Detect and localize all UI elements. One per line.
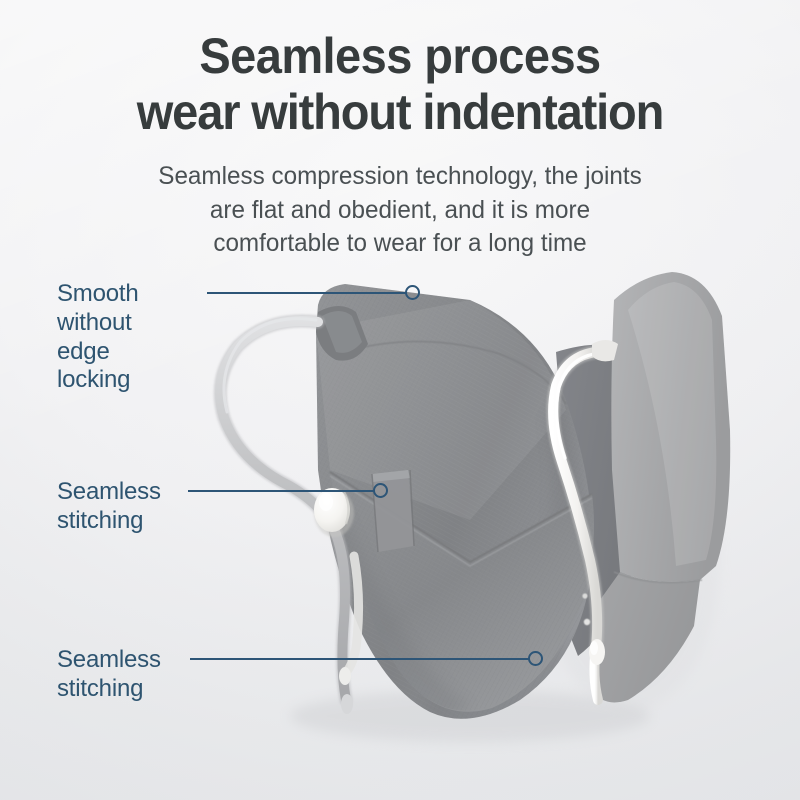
page-subhead: Seamless compression technology, the joi… xyxy=(61,160,740,261)
callout-marker-dot-1 xyxy=(405,285,420,300)
callout-label-stitching-lower: Seamless stitching xyxy=(57,646,161,704)
headline-line-1: Seamless process xyxy=(199,28,600,84)
callout-leader-line-3 xyxy=(190,658,530,660)
cord-tip xyxy=(341,694,353,714)
callout-leader-line-2 xyxy=(188,490,375,492)
subhead-line-1: Seamless compression technology, the joi… xyxy=(61,160,740,194)
callout-marker-dot-3 xyxy=(528,651,543,666)
subhead-line-3: comfortable to wear for a long time xyxy=(61,227,740,261)
white-strap-anchor xyxy=(592,340,618,361)
headline-line-2: wear without indentation xyxy=(24,84,776,140)
fabric-speck xyxy=(584,619,590,625)
page-headline: Seamless process wear without indentatio… xyxy=(24,28,776,140)
mask-side-panel-lower xyxy=(592,572,700,702)
callout-leader-line-1 xyxy=(207,292,407,294)
callout-label-stitching-upper: Seamless stitching xyxy=(57,478,161,536)
callout-marker-dot-2 xyxy=(373,483,388,498)
callout-label-smooth-edge: Smooth without edge locking xyxy=(57,280,139,395)
subhead-line-2: are flat and obedient, and it is more xyxy=(61,194,740,228)
fabric-speck xyxy=(582,593,587,598)
product-feature-poster: Seamless process wear without indentatio… xyxy=(0,0,800,800)
